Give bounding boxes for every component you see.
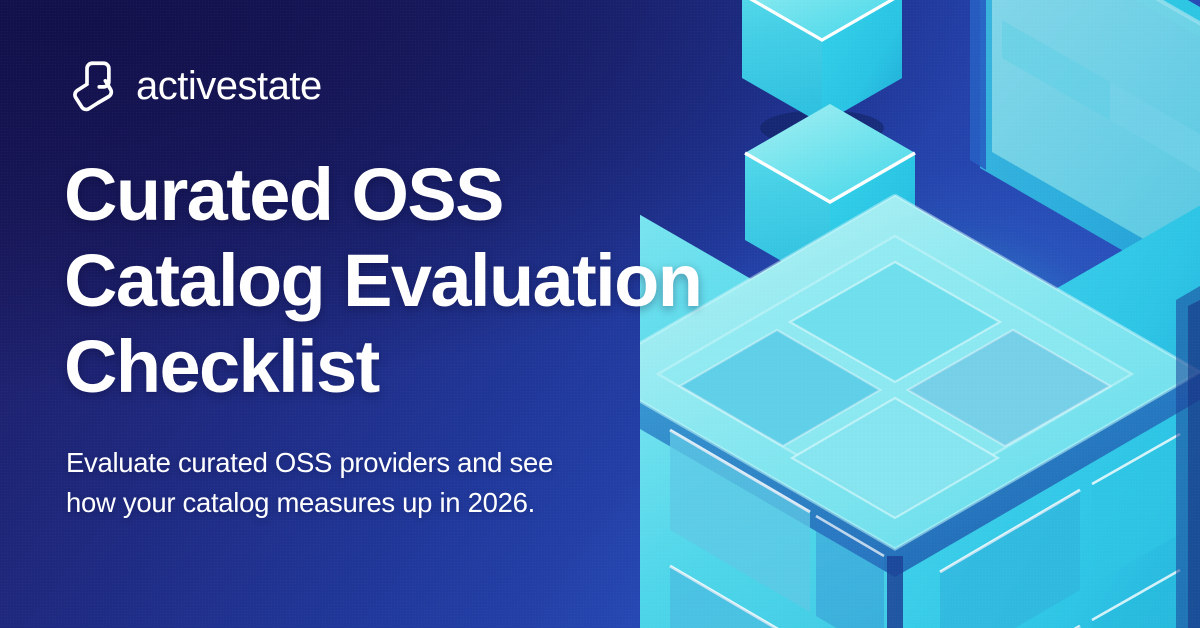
page-title: Curated OSS Catalog Evaluation Checklist	[64, 152, 701, 410]
headline-line-2: Catalog Evaluation	[64, 238, 701, 324]
activestate-wordmark: activestate	[136, 66, 322, 106]
headline-line-3: Checklist	[64, 324, 701, 410]
subtitle-line-1: Evaluate curated OSS providers and see	[66, 443, 553, 483]
promo-banner: activestate Curated OSS Catalog Evaluati…	[0, 0, 1200, 628]
page-subtitle: Evaluate curated OSS providers and see h…	[66, 443, 553, 523]
subtitle-line-2: how your catalog measures up in 2026.	[66, 483, 553, 523]
headline-line-1: Curated OSS	[64, 152, 701, 238]
activestate-pinwheel-logo-icon	[66, 58, 122, 114]
banner-content: activestate Curated OSS Catalog Evaluati…	[0, 0, 880, 628]
activestate-logo[interactable]: activestate	[66, 58, 322, 114]
